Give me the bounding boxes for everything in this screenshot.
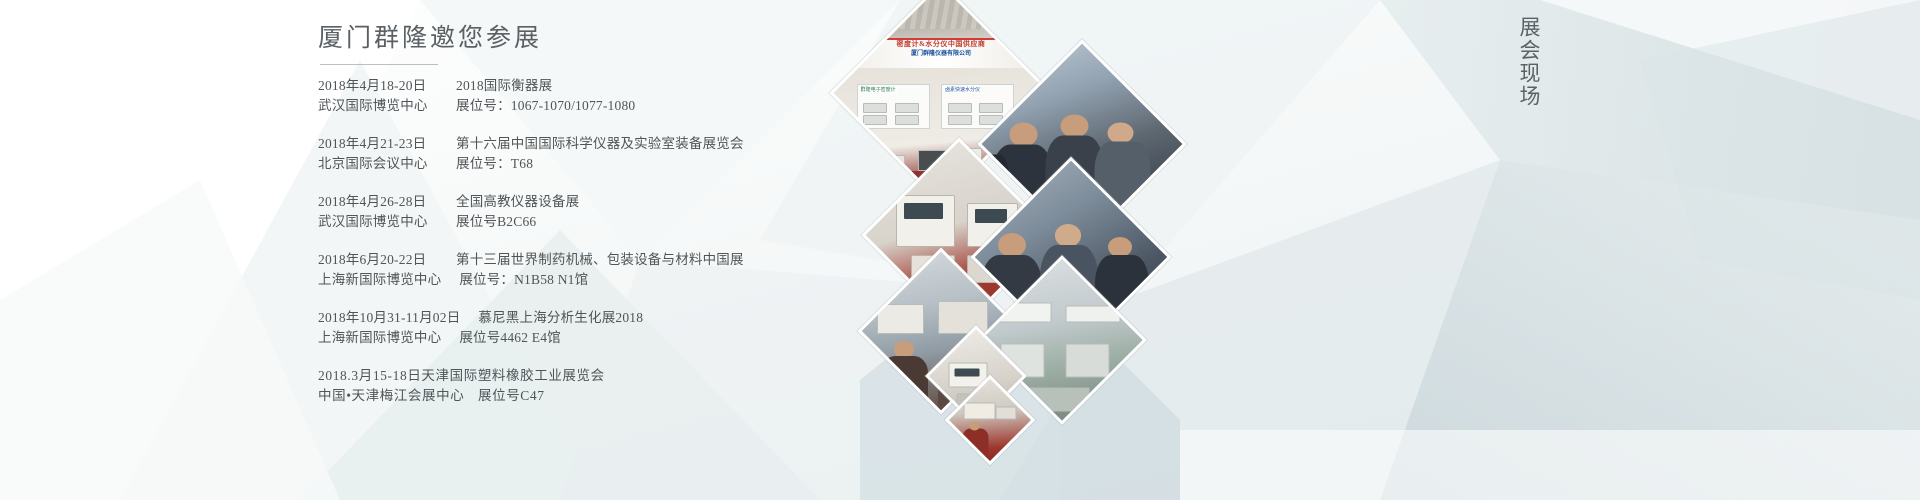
event-line-bottom: 北京国际会议中心 展位号：T68 — [318, 154, 878, 175]
event-booth: 展位号4462 E4馆 — [441, 328, 561, 349]
vertical-caption: 展会现场 — [1508, 16, 1542, 108]
event-venue: 上海新国际博览中心 — [318, 270, 441, 291]
event-line-bottom: 武汉国际博览中心 展位号：1067-1070/1077-1080 — [318, 96, 878, 117]
event-line-top: 2018年4月26-28日 全国高教仪器设备展 — [318, 192, 878, 213]
event-venue: 武汉国际博览中心 — [318, 212, 438, 233]
event-item-2: 2018年4月21-23日 第十六届中国国际科学仪器及实验室装备展览会 北京国际… — [318, 134, 878, 175]
event-date: 2018年10月31-11月02日 — [318, 308, 460, 329]
event-line-top: 2018年4月18-20日 2018国际衡器展 — [318, 76, 878, 97]
event-line-top: 2018.3月15-18日天津国际塑料橡胶工业展览会 — [318, 366, 878, 387]
event-title: 慕尼黑上海分析生化展2018 — [460, 308, 643, 329]
event-venue: 上海新国际博览中心 — [318, 328, 441, 349]
event-booth: 展位号：N1B58 N1馆 — [441, 270, 588, 291]
event-title: 第十三届世界制药机械、包装设备与材料中国展 — [438, 250, 744, 271]
booth-shelf-left: 群隆电子密度计 — [857, 84, 930, 130]
event-date: 2018年4月26-28日 — [318, 192, 438, 213]
event-booth: 展位号B2C66 — [438, 212, 536, 233]
event-line-bottom: 上海新国际博览中心 展位号：N1B58 N1馆 — [318, 270, 878, 291]
event-line-bottom: 上海新国际博览中心 展位号4462 E4馆 — [318, 328, 878, 349]
schedule-panel: 厦门群隆邀您参展 2018年4月18-20日 2018国际衡器展 武汉国际博览中… — [318, 22, 878, 424]
event-date: 2018年4月18-20日 — [318, 76, 438, 97]
booth-banner-sub-text: 厦门群隆仪器有限公司 — [854, 48, 1027, 57]
event-title: 第十六届中国国际科学仪器及实验室装备展览会 — [438, 134, 744, 155]
event-title: 2018国际衡器展 — [438, 76, 552, 97]
exhibition-banner: 厦门群隆邀您参展 2018年4月18-20日 2018国际衡器展 武汉国际博览中… — [0, 0, 1920, 500]
event-venue: 中国•天津梅江会展中心 — [318, 386, 468, 407]
booth-ceiling — [829, 0, 1052, 29]
booth-banner: 密度计&水分仪中国供应商 厦门群隆仪器有限公司 — [854, 38, 1027, 68]
booth-sign-right: 卤素快速水分仪 — [944, 86, 981, 93]
event-date: 2018年6月20-22日 — [318, 250, 438, 271]
event-date: 2018年4月21-23日 — [318, 134, 438, 155]
event-line-bottom: 中国•天津梅江会展中心 展位号C47 — [318, 386, 878, 407]
event-title: 全国高教仪器设备展 — [438, 192, 579, 213]
event-booth: 展位号：T68 — [438, 154, 533, 175]
photo-collage: 密度计&水分仪中国供应商 厦门群隆仪器有限公司 群隆电子密度计 卤素快速水分仪 — [830, 0, 1230, 500]
event-item-1: 2018年4月18-20日 2018国际衡器展 武汉国际博览中心 展位号：106… — [318, 76, 878, 117]
booth-sign-left: 群隆电子密度计 — [860, 86, 897, 93]
event-line-top: 2018年10月31-11月02日 慕尼黑上海分析生化展2018 — [318, 308, 878, 329]
event-item-3: 2018年4月26-28日 全国高教仪器设备展 武汉国际博览中心 展位号B2C6… — [318, 192, 878, 233]
event-item-6: 2018.3月15-18日天津国际塑料橡胶工业展览会 中国•天津梅江会展中心 展… — [318, 366, 878, 407]
event-venue: 武汉国际博览中心 — [318, 96, 438, 117]
event-date: 2018.3月15-18日天津国际塑料橡胶工业展览会 — [318, 366, 605, 387]
event-venue: 北京国际会议中心 — [318, 154, 438, 175]
page-title: 厦门群隆邀您参展 — [318, 22, 878, 56]
event-line-top: 2018年4月21-23日 第十六届中国国际科学仪器及实验室装备展览会 — [318, 134, 878, 155]
event-line-top: 2018年6月20-22日 第十三届世界制药机械、包装设备与材料中国展 — [318, 250, 878, 271]
title-divider — [320, 64, 438, 65]
event-item-4: 2018年6月20-22日 第十三届世界制药机械、包装设备与材料中国展 上海新国… — [318, 250, 878, 291]
event-booth: 展位号：1067-1070/1077-1080 — [438, 96, 635, 117]
event-line-bottom: 武汉国际博览中心 展位号B2C66 — [318, 212, 878, 233]
event-item-5: 2018年10月31-11月02日 慕尼黑上海分析生化展2018 上海新国际博览… — [318, 308, 878, 349]
event-booth: 展位号C47 — [468, 386, 545, 407]
